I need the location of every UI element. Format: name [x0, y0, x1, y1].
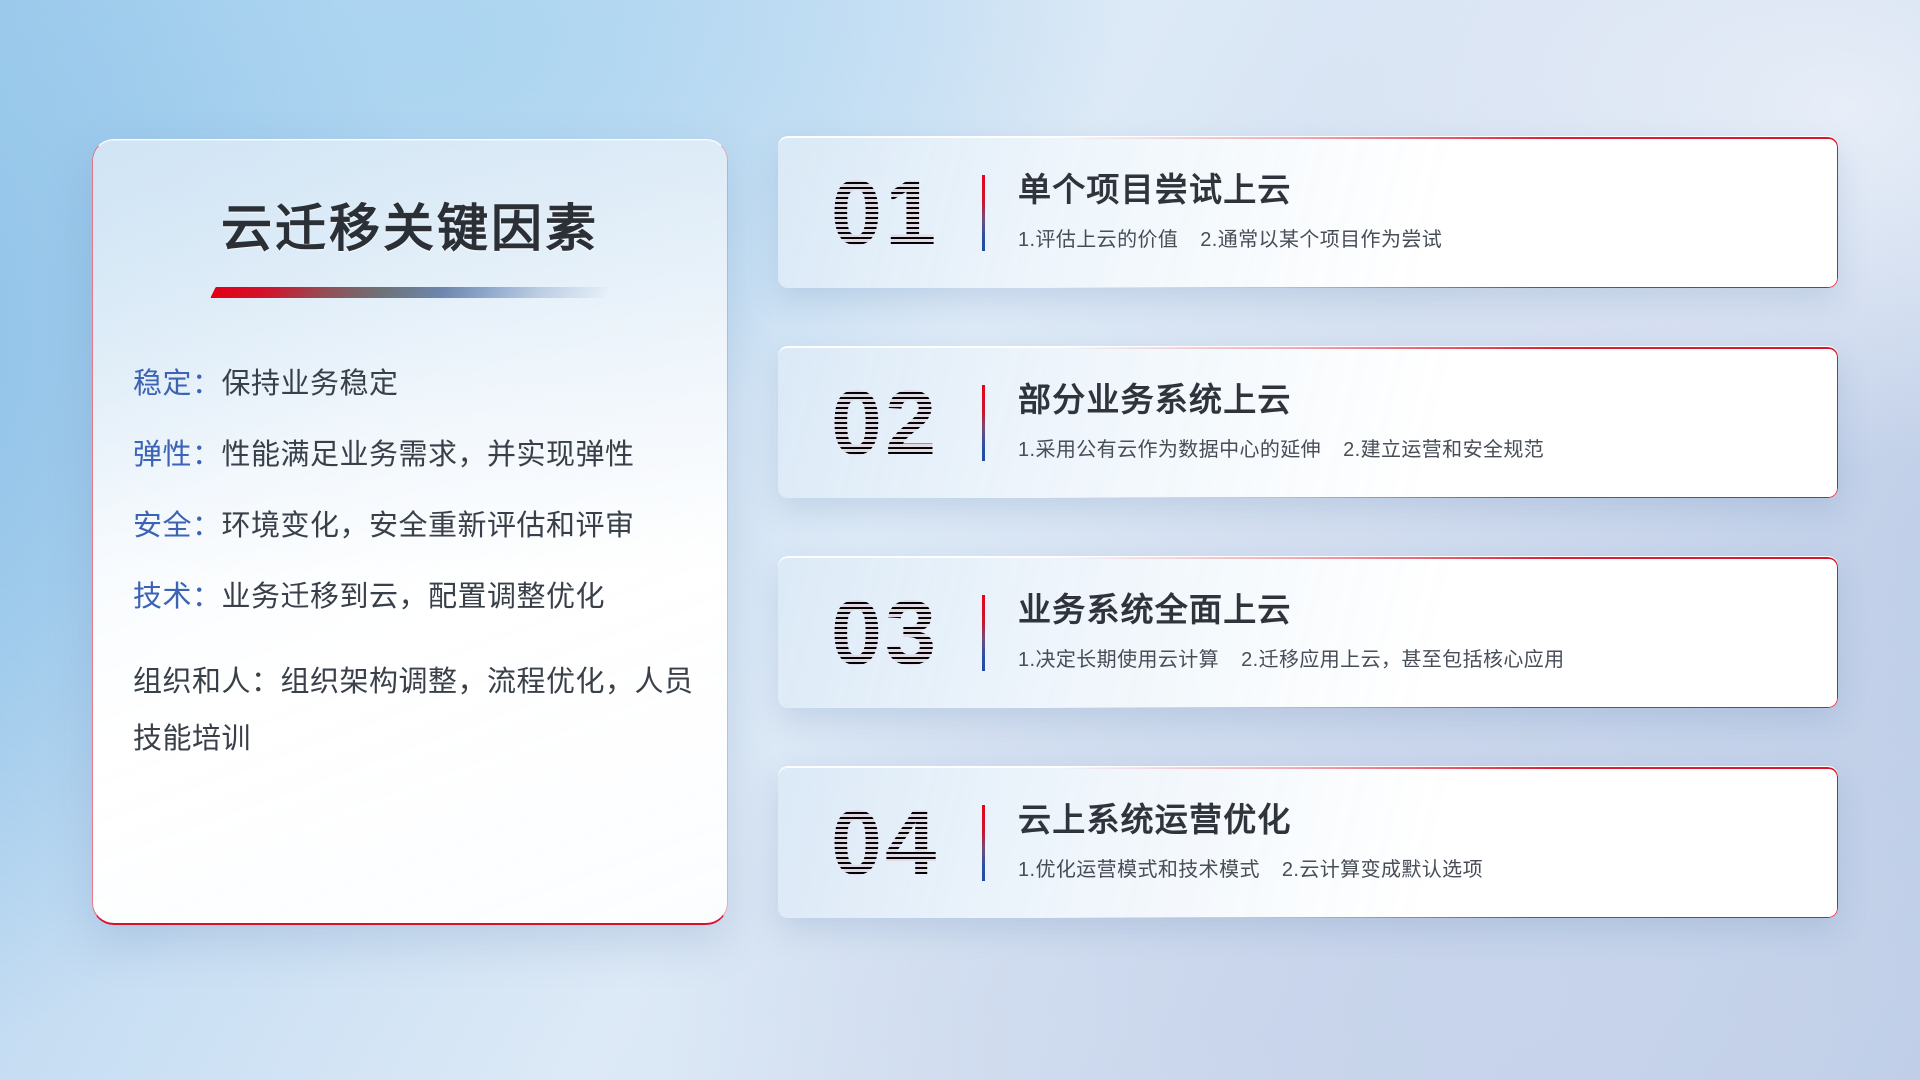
card-text-block: 云上系统运营优化 1.优化运营模式和技术模式2.云计算变成默认选项: [1018, 793, 1814, 882]
title-underline-accent: [210, 287, 609, 298]
factor-item-organization-people: 组织和人：组织架构调整，流程优化，人员技能培训: [133, 654, 707, 767]
factor-text: 业务迁移到云，配置调整优化: [222, 581, 606, 613]
factor-item-security: 安全：环境变化，安全重新评估和评审: [133, 512, 707, 541]
card-title: 云上系统运营优化: [1018, 793, 1814, 841]
factor-label: 弹性：: [133, 439, 222, 471]
factor-label: 稳定：: [133, 368, 222, 400]
stage-number-watermark: 03: [810, 572, 960, 694]
stage-number-watermark: 01: [810, 152, 960, 274]
card-title: 业务系统全面上云: [1018, 583, 1814, 631]
card-point-1: 1.决定长期使用云计算: [1018, 649, 1219, 671]
card-title: 部分业务系统上云: [1018, 373, 1814, 421]
stage-card[interactable]: 03 03 业务系统全面上云 1.决定长期使用云计算2.迁移应用上云，甚至包括核…: [778, 556, 1838, 708]
card-point-2: 2.通常以某个项目作为尝试: [1200, 229, 1442, 251]
factor-item-stability: 稳定：保持业务稳定: [133, 370, 707, 399]
card-divider: [982, 385, 985, 461]
card-point-1: 1.采用公有云作为数据中心的延伸: [1018, 439, 1321, 461]
slide-canvas: 云迁移关键因素 稳定：保持业务稳定 弹性：性能满足业务需求，并实现弹性 安全：环…: [0, 0, 1920, 1080]
card-divider: [982, 805, 985, 881]
card-title: 单个项目尝试上云: [1018, 163, 1814, 211]
factor-label: 组织和人：: [133, 666, 281, 698]
stage-card[interactable]: 04 04 云上系统运营优化 1.优化运营模式和技术模式2.云计算变成默认选项: [778, 766, 1838, 918]
stage-card-list: 01 01 单个项目尝试上云 1.评估上云的价值2.通常以某个项目作为尝试 02…: [778, 136, 1838, 976]
card-point-2: 2.云计算变成默认选项: [1282, 859, 1483, 881]
factor-text: 性能满足业务需求，并实现弹性: [222, 439, 635, 471]
card-text-block: 部分业务系统上云 1.采用公有云作为数据中心的延伸2.建立运营和安全规范: [1018, 373, 1814, 462]
card-point-1: 1.优化运营模式和技术模式: [1018, 859, 1260, 881]
stage-card[interactable]: 02 02 部分业务系统上云 1.采用公有云作为数据中心的延伸2.建立运营和安全…: [778, 346, 1838, 498]
key-factors-panel: 云迁移关键因素 稳定：保持业务稳定 弹性：性能满足业务需求，并实现弹性 安全：环…: [92, 139, 728, 925]
factor-list: 稳定：保持业务稳定 弹性：性能满足业务需求，并实现弹性 安全：环境变化，安全重新…: [133, 370, 727, 767]
card-text-block: 单个项目尝试上云 1.评估上云的价值2.通常以某个项目作为尝试: [1018, 163, 1814, 252]
page-title: 云迁移关键因素: [93, 187, 727, 261]
stage-card[interactable]: 01 01 单个项目尝试上云 1.评估上云的价值2.通常以某个项目作为尝试: [778, 136, 1838, 288]
card-subtitle: 1.评估上云的价值2.通常以某个项目作为尝试: [1018, 223, 1814, 252]
card-text-block: 业务系统全面上云 1.决定长期使用云计算2.迁移应用上云，甚至包括核心应用: [1018, 583, 1814, 672]
factor-label: 技术：: [133, 581, 222, 613]
card-divider: [982, 595, 985, 671]
card-subtitle: 1.采用公有云作为数据中心的延伸2.建立运营和安全规范: [1018, 433, 1814, 462]
card-point-1: 1.评估上云的价值: [1018, 229, 1178, 251]
factor-item-technology: 技术：业务迁移到云，配置调整优化: [133, 583, 707, 612]
factor-item-elasticity: 弹性：性能满足业务需求，并实现弹性: [133, 441, 707, 470]
card-point-2: 2.建立运营和安全规范: [1343, 439, 1544, 461]
card-divider: [982, 175, 985, 251]
card-subtitle: 1.决定长期使用云计算2.迁移应用上云，甚至包括核心应用: [1018, 643, 1814, 672]
stage-number-watermark: 02: [810, 362, 960, 484]
stage-number-watermark: 04: [810, 782, 960, 904]
factor-text: 环境变化，安全重新评估和评审: [222, 510, 635, 542]
factor-label: 安全：: [133, 510, 222, 542]
factor-text: 保持业务稳定: [222, 368, 399, 400]
card-point-2: 2.迁移应用上云，甚至包括核心应用: [1241, 649, 1564, 671]
card-subtitle: 1.优化运营模式和技术模式2.云计算变成默认选项: [1018, 853, 1814, 882]
